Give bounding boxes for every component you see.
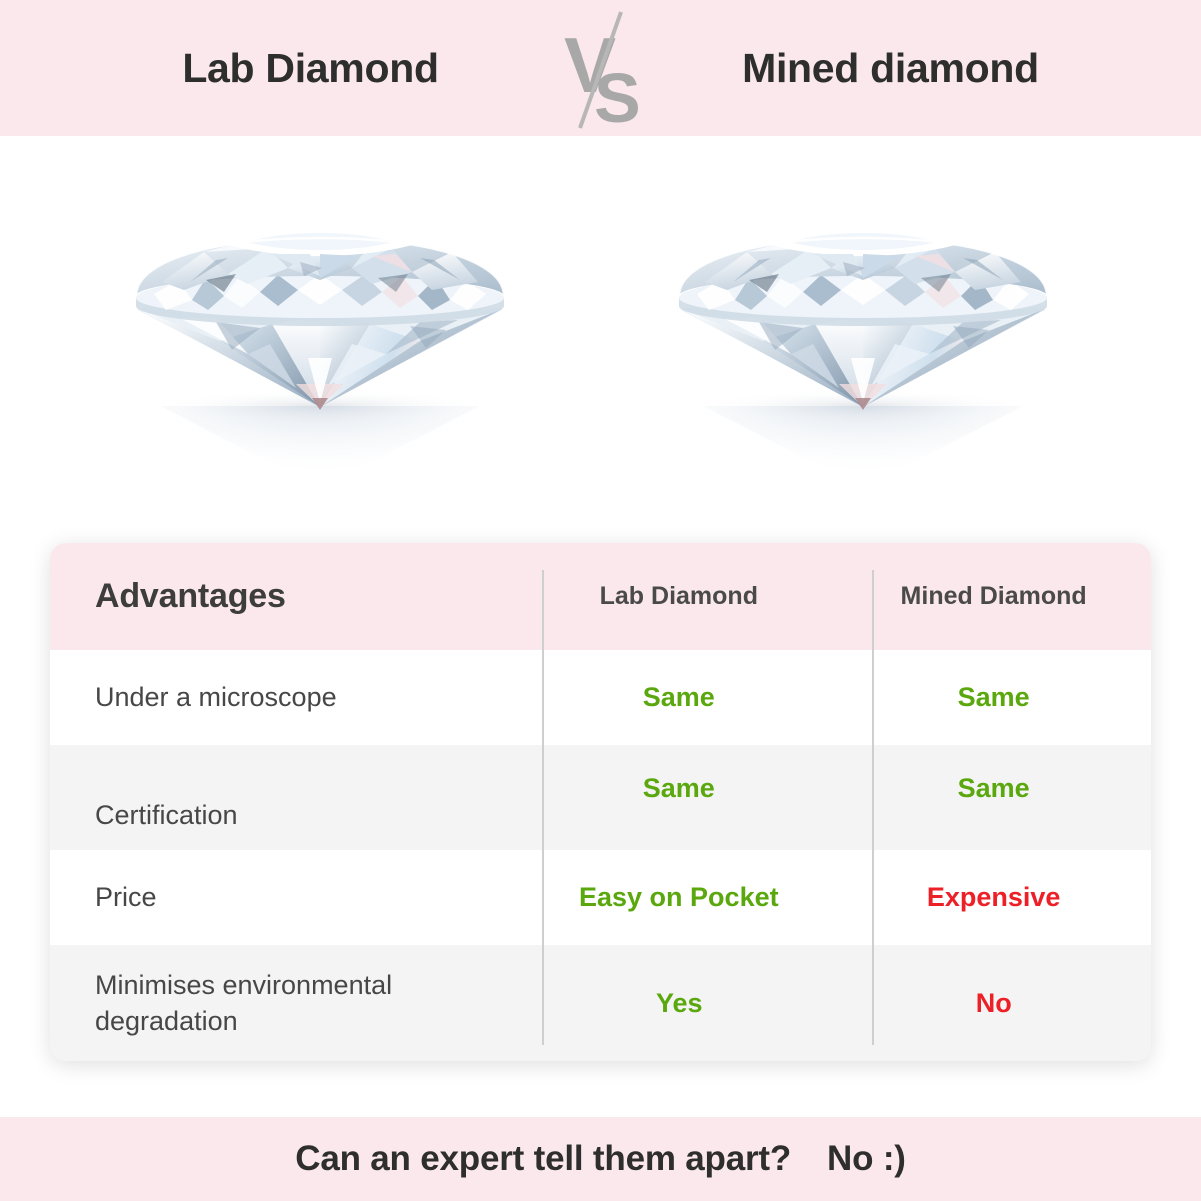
column-header-advantages: Advantages [50,574,521,620]
table-header-row: Advantages Lab Diamond Mined Diamond [50,543,1151,650]
column-divider [542,570,544,1045]
row-label: Price [50,879,521,915]
header-banner: Lab Diamond V S Mined diamond [0,0,1201,136]
column-header-lab-diamond: Lab Diamond [521,582,836,611]
row-value-mined: No [836,988,1151,1019]
table-row: Minimises environmental degradation Yes … [50,945,1151,1061]
diamond-icon [663,158,1063,488]
row-label: Under a microscope [50,679,521,715]
column-header-mined-diamond: Mined Diamond [836,582,1151,611]
row-value-mined: Same [836,682,1151,713]
footer-answer: No :) [827,1139,906,1179]
row-value-mined: Expensive [836,882,1151,913]
mined-diamond-image [663,158,1063,488]
header-right-title: Mined diamond [656,45,1126,92]
header-left-title: Lab Diamond [76,45,546,92]
row-value-mined: Same [836,773,1151,822]
row-value-lab: Same [521,682,836,713]
footer-question: Can an expert tell them apart? [295,1139,791,1179]
row-label: Minimises environmental degradation [50,967,522,1040]
row-value-lab: Yes [522,988,837,1019]
table-row: Certification Same Same [50,745,1151,850]
lab-diamond-image [120,158,520,488]
row-value-lab: Easy on Pocket [521,882,836,913]
diamond-icon [120,158,520,488]
row-label: Certification [50,761,521,833]
vs-icon: V S [546,0,656,136]
diamond-stage [0,136,1201,543]
table-row: Price Easy on Pocket Expensive [50,850,1151,945]
table-row: Under a microscope Same Same [50,650,1151,745]
column-divider [872,570,874,1045]
comparison-table: Advantages Lab Diamond Mined Diamond Und… [50,543,1151,1061]
vs-badge: V S [546,0,656,136]
footer-banner: Can an expert tell them apart? No :) [0,1117,1201,1201]
row-value-lab: Same [521,773,836,822]
